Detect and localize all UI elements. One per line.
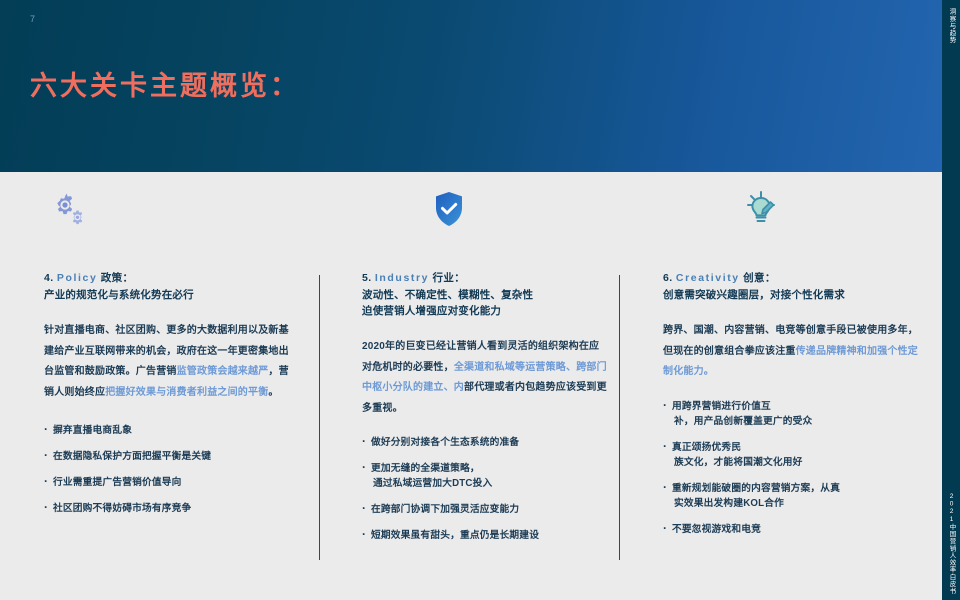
industry-number: 5. (362, 272, 372, 284)
creativity-paragraph: 跨界、国潮、内容营销、电竞等创意手段已被使用多年，但现在的创意组合拳应该注重传递… (663, 321, 919, 383)
highlighted-text: 把握好效果与消费者利益之间的平衡 (105, 387, 268, 398)
columns-container: 4. Policy 政策： 产业的规范化与系统化势在必行 针对直播电商、社区团购… (0, 172, 942, 600)
policy-heading: 4. Policy 政策： (44, 270, 290, 285)
list-item: 在数据隐私保护方面把握平衡是关键 (44, 449, 290, 464)
content-area: 4. Policy 政策： 产业的规范化与系统化势在必行 针对直播电商、社区团购… (0, 172, 942, 600)
policy-number: 4. (44, 272, 54, 284)
page-title: 六大关卡主题概览： (30, 64, 300, 103)
list-item-continuation: 实效果出发构建KOL合作 (672, 496, 919, 511)
list-item: 重新规划能破圈的内容营销方案，从真实效果出发构建KOL合作 (663, 481, 919, 511)
industry-subhead: 波动性、不确定性、模糊性、复杂性 (362, 287, 608, 303)
rail-top-label: 洞察与趋势 (942, 8, 960, 44)
page-number: 7 (30, 14, 36, 24)
creativity-body: 6. Creativity 创意： 创意需突破兴趣圈层，对接个性化需求 跨界、国… (663, 270, 919, 548)
column-policy: 4. Policy 政策： 产业的规范化与系统化势在必行 针对直播电商、社区团购… (0, 172, 319, 600)
industry-paragraph: 2020年的巨变已经让营销人看到灵活的组织架构在应对危机时的必要性，全渠道和私域… (362, 337, 608, 419)
list-item-continuation: 通过私域运营加大DTC投入 (371, 476, 608, 491)
industry-subhead-2: 迫使营销人增强应对变化能力 (362, 303, 608, 319)
industry-heading: 5. Industry 行业： (362, 270, 608, 285)
creativity-number: 6. (663, 272, 673, 284)
gears-icon (0, 184, 319, 234)
creativity-bullets: 用跨界营销进行价值互补，用产品创新覆盖更广的受众真正颂扬优秀民族文化，才能将国潮… (663, 399, 919, 537)
list-item: 更加无缝的全渠道策略，通过私域运营加大DTC投入 (362, 461, 608, 491)
policy-bullets: 摒弃直播电商乱象在数据隐私保护方面把握平衡是关键行业需重提广告营销价值导向社区团… (44, 423, 290, 516)
industry-cn-title: 行业： (432, 272, 465, 284)
list-item: 在跨部门协调下加强灵活应变能力 (362, 502, 608, 517)
column-creativity: 6. Creativity 创意： 创意需突破兴趣圈层，对接个性化需求 跨界、国… (619, 172, 942, 600)
creativity-heading: 6. Creativity 创意： (663, 270, 919, 285)
industry-en-title: Industry (375, 272, 429, 284)
list-item: 用跨界营销进行价值互补，用产品创新覆盖更广的受众 (663, 399, 919, 429)
shield-check-icon (319, 184, 619, 234)
policy-subhead: 产业的规范化与系统化势在必行 (44, 287, 290, 303)
list-item: 社区团购不得妨碍市场有序竞争 (44, 501, 290, 516)
slide-header: 7 六大关卡主题概览： (0, 0, 942, 172)
idea-bulb-icon (619, 184, 942, 234)
plain-text: 。 (268, 387, 278, 398)
list-item: 做好分别对接各个生态系统的准备 (362, 435, 608, 450)
rail-bottom-label: 2021中国营销人效率白皮书 (942, 493, 960, 594)
highlighted-text: 监管政策会越来越严 (177, 366, 269, 377)
list-item: 真正颂扬优秀民族文化，才能将国潮文化用好 (663, 440, 919, 470)
industry-bullets: 做好分别对接各个生态系统的准备更加无缝的全渠道策略，通过私域运营加大DTC投入在… (362, 435, 608, 543)
list-item: 不要忽视游戏和电竞 (663, 522, 919, 537)
column-industry: 5. Industry 行业： 波动性、不确定性、模糊性、复杂性 迫使营销人增强… (319, 172, 619, 600)
policy-paragraph: 针对直播电商、社区团购、更多的大数据利用以及新基建给产业互联网带来的机会，政府在… (44, 321, 290, 403)
creativity-cn-title: 创意： (743, 272, 776, 284)
list-item-continuation: 族文化，才能将国潮文化用好 (672, 455, 919, 470)
policy-cn-title: 政策： (101, 272, 134, 284)
industry-body: 5. Industry 行业： 波动性、不确定性、模糊性、复杂性 迫使营销人增强… (362, 270, 608, 554)
creativity-en-title: Creativity (676, 272, 740, 284)
creativity-subhead: 创意需突破兴趣圈层，对接个性化需求 (663, 287, 919, 303)
list-item: 短期效果虽有甜头，重点仍是长期建设 (362, 528, 608, 543)
list-item: 摒弃直播电商乱象 (44, 423, 290, 438)
policy-body: 4. Policy 政策： 产业的规范化与系统化势在必行 针对直播电商、社区团购… (44, 270, 290, 527)
policy-en-title: Policy (57, 272, 98, 284)
side-rail: 洞察与趋势 2021中国营销人效率白皮书 (942, 0, 960, 600)
list-item: 行业需重提广告营销价值导向 (44, 475, 290, 490)
list-item-continuation: 补，用产品创新覆盖更广的受众 (672, 414, 919, 429)
